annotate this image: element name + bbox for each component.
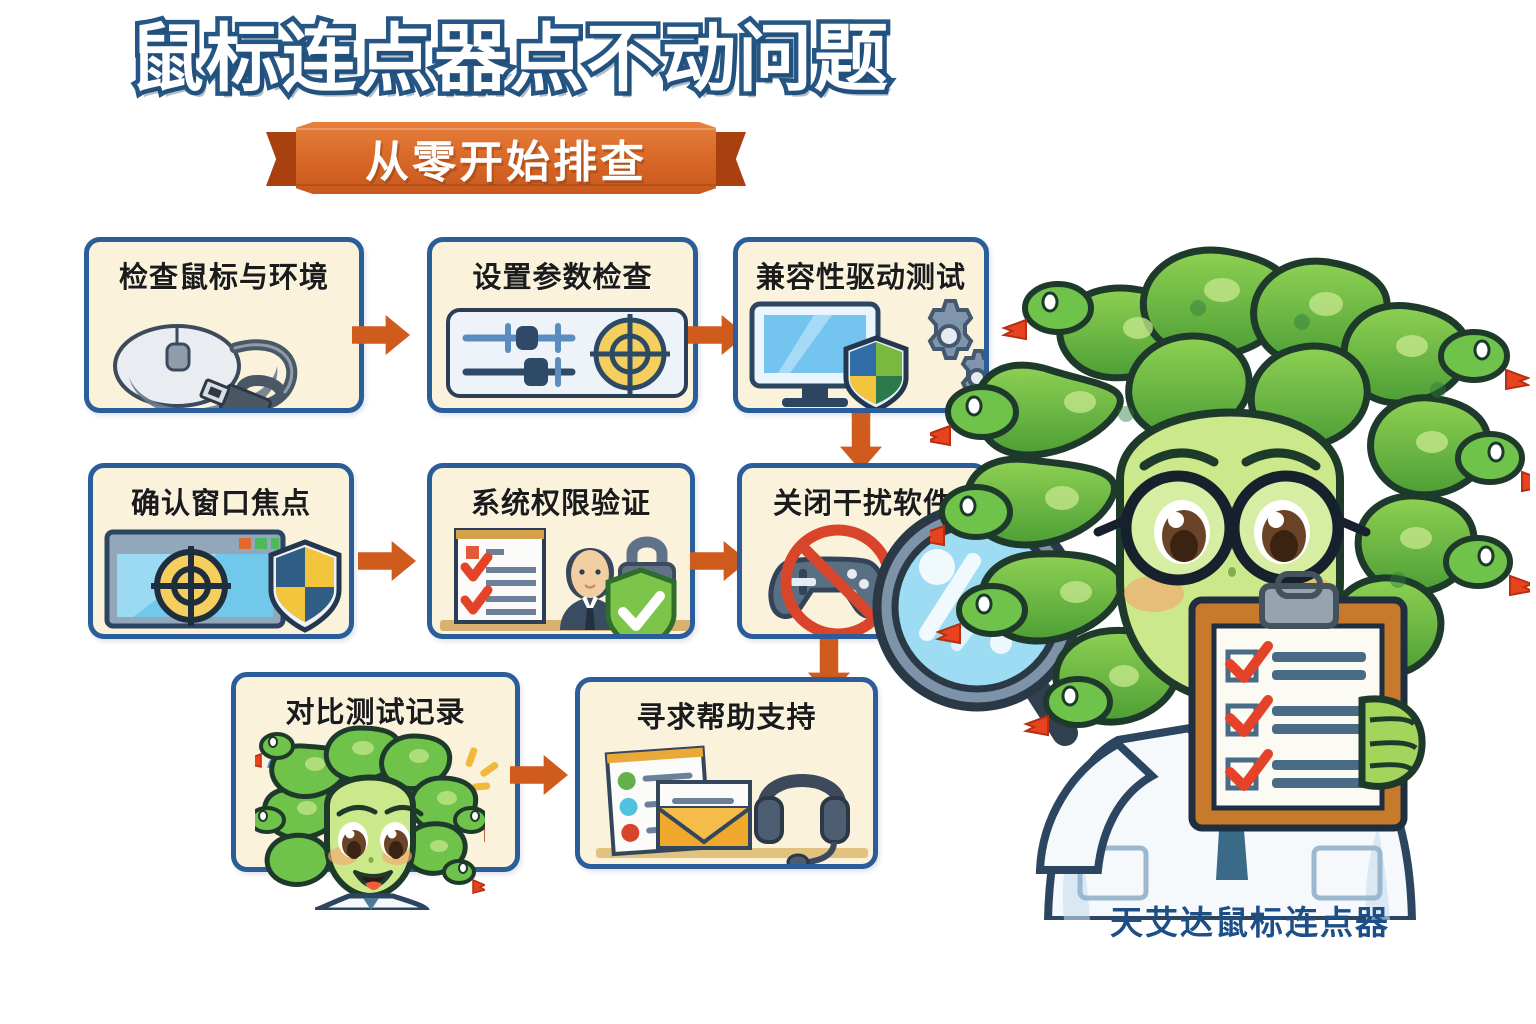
medusa-scientist-mascot [930,180,1530,920]
window-target-shield-icon [93,524,349,628]
step-2-label: 设置参数检查 [432,254,693,296]
mini-medusa-mascot [255,720,485,910]
step-box-5[interactable]: 系统权限验证 [427,463,695,639]
infographic-canvas: 鼠标连点器点不动问题 从零开始排查 检查鼠标与环境 [0,0,1536,1024]
step-1-label: 检查鼠标与环境 [89,254,359,296]
step-8-label: 寻求帮助支持 [580,694,873,736]
subtitle-ribbon: 从零开始排查 [296,122,716,194]
brand-label: 天艾达鼠标连点器 [1060,896,1440,944]
arrow-4-to-5 [358,541,416,581]
computer-mouse-icon [89,298,359,402]
step-4-label: 确认窗口焦点 [93,480,349,522]
page-title: 鼠标连点器点不动问题 [130,20,890,98]
step-box-4[interactable]: 确认窗口焦点 [88,463,354,639]
title-block: 鼠标连点器点不动问题 [0,20,1020,98]
step-box-1[interactable]: 检查鼠标与环境 [84,237,364,413]
step-box-2[interactable]: 设置参数检查 [427,237,698,413]
step-box-8[interactable]: 寻求帮助支持 [575,677,878,869]
documents-envelope-headset-icon [580,738,873,858]
step-5-label: 系统权限验证 [432,480,690,522]
sliders-target-icon [432,298,693,402]
subtitle-text: 从零开始排查 [296,122,716,194]
checklist-person-lock-icon [432,524,690,628]
